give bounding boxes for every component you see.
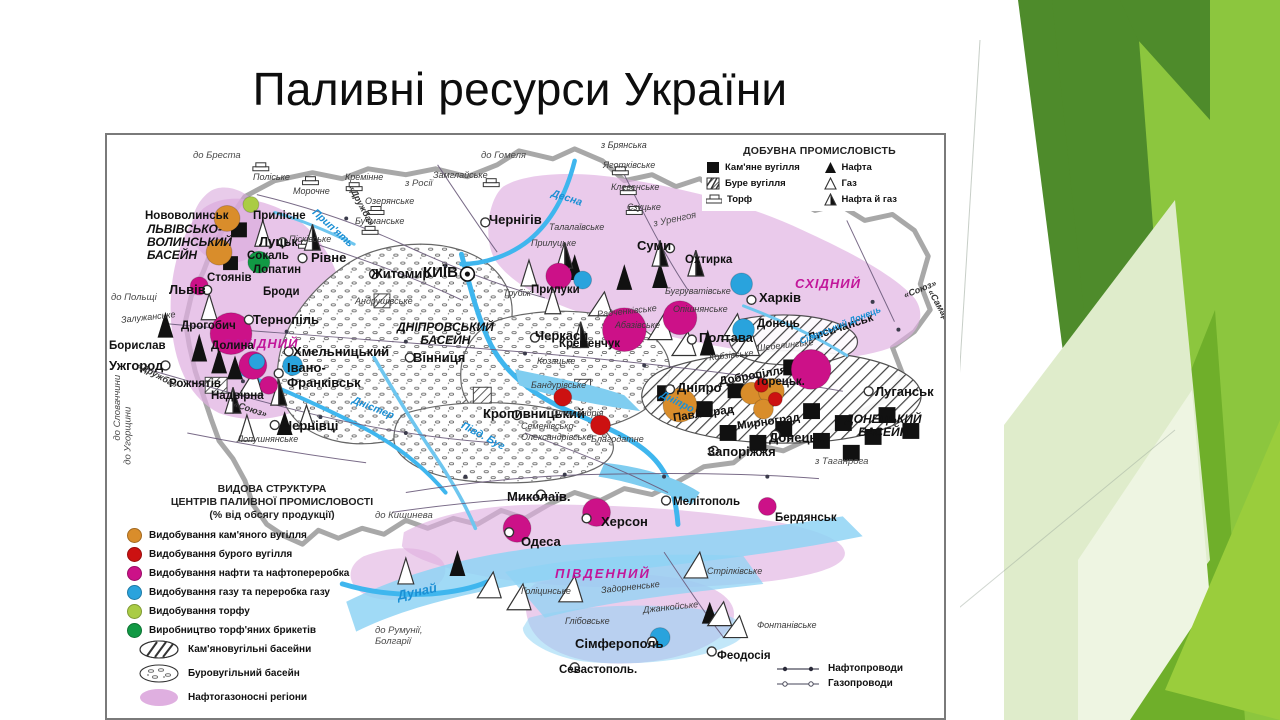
map-city-label: Бердянськ bbox=[775, 513, 837, 525]
map-deposit-label: Глібовське bbox=[565, 617, 610, 626]
legend-item: Нафта й газ bbox=[824, 193, 934, 206]
peat-briquette-dot-icon bbox=[127, 623, 142, 638]
map-city-label: Одеса bbox=[521, 535, 561, 548]
legend-mining-header: ДОБУВНА ПРОМИСЛОВІСТЬ bbox=[706, 145, 933, 157]
oil-dot-icon bbox=[127, 566, 142, 581]
legend-item-label: Нафта bbox=[842, 162, 872, 173]
oil-pipeline-icon bbox=[775, 664, 821, 674]
map-basin-label: ДНІПРОВСЬКИЙБАСЕЙН bbox=[397, 321, 494, 348]
map-city-label: Донець bbox=[757, 319, 800, 331]
map-city-label: Тернопіль bbox=[253, 313, 319, 326]
legend-item: Буре вугілля bbox=[706, 177, 816, 190]
brown-coal-dot-icon bbox=[127, 547, 142, 562]
map-external-direction-label: з Росії bbox=[405, 179, 433, 189]
legend-item: Буровугільний басейн bbox=[139, 664, 419, 683]
map-city-label: Дніпро bbox=[677, 381, 721, 394]
map-basin-label: ЛЬВІВСЬКО-ВОЛИНСЬКИЙБАСЕЙН bbox=[147, 223, 232, 262]
map-city-label: Броди bbox=[263, 287, 300, 299]
peat-dot-icon bbox=[127, 604, 142, 619]
legend-item-label: Видобування торфу bbox=[149, 606, 250, 617]
legend-structure-header-line2: ЦЕНТРІВ ПАЛИВНОЇ ПРОМИСЛОВОСТІ bbox=[171, 496, 373, 508]
map-city-label: Борислав bbox=[109, 341, 166, 353]
legend-pipelines: Нафтопроводи Газопроводи bbox=[775, 663, 945, 693]
legend-item: Торф bbox=[706, 193, 816, 206]
legend-production-structure: ВИДОВА СТРУКТУРА ЦЕНТРІВ ПАЛИВНОЇ ПРОМИС… bbox=[127, 483, 417, 642]
map-deposit-label: Яготківське bbox=[603, 161, 655, 170]
map-city-label: Херсон bbox=[601, 515, 648, 528]
legend-item-label: Газ bbox=[842, 178, 857, 189]
legend-item-label: Нафтопроводи bbox=[828, 663, 903, 674]
map-city-label: Охтирка bbox=[685, 255, 732, 267]
map-deposit-label: Голіцинське bbox=[521, 587, 571, 596]
hatched-square-icon bbox=[706, 177, 720, 190]
map-city-label: Донецьк bbox=[769, 431, 824, 444]
map-city-label: Прилісне bbox=[253, 211, 306, 223]
map-deposit-label: Озерянське bbox=[365, 197, 414, 206]
oil-gas-region-fill-icon bbox=[139, 688, 179, 707]
legend-structure-header-line1: ВИДОВА СТРУКТУРА bbox=[218, 483, 327, 495]
map-deposit-label: Семенівсько-Олександрівське bbox=[521, 421, 592, 443]
legend-item-label: Виробництво торф'яних брикетів bbox=[149, 625, 316, 636]
map-city-label: Рівне bbox=[311, 251, 346, 264]
map-city-label: Мелітополь bbox=[673, 497, 740, 509]
map-city-label: Миколаїв. bbox=[507, 490, 571, 503]
legend-item: Видобування торфу bbox=[127, 604, 417, 619]
legend-item: Газ bbox=[824, 177, 934, 190]
legend-item: Нафтогазоносні регіони bbox=[139, 688, 419, 707]
legend-mining-right-column: Нафта Газ Нафта й газ bbox=[824, 161, 934, 209]
map-basin-label: ДОНЕЦЬКИЙБАСЕЙН bbox=[845, 413, 922, 440]
legend-mining-industry: ДОБУВНА ПРОМИСЛОВІСТЬ Кам'яне вугілля Бу… bbox=[702, 143, 937, 211]
map-city-label: Львів bbox=[169, 283, 206, 296]
legend-item: Видобування газу та переробка газу bbox=[127, 585, 417, 600]
map-container: ЛЬВІВСЬКО-ВОЛИНСЬКИЙБАСЕЙН ДНІПРОВСЬКИЙБ… bbox=[105, 133, 946, 720]
legend-item: Видобування бурого вугілля bbox=[127, 547, 417, 562]
map-deposit-label: Фонтанівське bbox=[757, 621, 816, 630]
legend-item-label: Видобування бурого вугілля bbox=[149, 549, 292, 560]
map-deposit-label: Єзуцьке bbox=[627, 203, 661, 212]
legend-item: Виробництво торф'яних брикетів bbox=[127, 623, 417, 638]
legend-item-label: Торф bbox=[727, 194, 752, 205]
legend-item-label: Видобування нафти та нафтопереробка bbox=[149, 568, 349, 579]
map-city-label: Севастополь. bbox=[559, 665, 637, 677]
map-deposit-label: Опішнянське bbox=[673, 305, 728, 314]
slide-title: Паливні ресурси України bbox=[0, 62, 1040, 116]
map-city-label: Лопатин bbox=[253, 265, 301, 277]
map-deposit-label: Бандурівське bbox=[531, 381, 586, 390]
legend-item-label: Буровугільний басейн bbox=[188, 668, 300, 679]
hard-coal-dot-icon bbox=[127, 528, 142, 543]
map-deposit-label: Пісківське bbox=[289, 235, 331, 244]
legend-item-label: Нафтогазоносні регіони bbox=[188, 692, 307, 703]
map-city-label: Прилуки bbox=[531, 285, 580, 297]
map-city-label: Долина bbox=[211, 341, 254, 353]
legend-item-label: Кам'яновугільні басейни bbox=[188, 644, 311, 655]
map-deposit-label: Бугруватівське bbox=[665, 287, 731, 296]
white-triangle-icon bbox=[824, 177, 837, 190]
gas-dot-icon bbox=[127, 585, 142, 600]
map-external-direction-label: до Словаччини bbox=[113, 375, 123, 441]
legend-mining-left-column: Кам'яне вугілля Буре вугілля bbox=[706, 161, 816, 209]
peat-bench-icon bbox=[706, 193, 722, 206]
brown-coal-basin-dotted-icon bbox=[139, 664, 179, 683]
map-deposit-label: Талалаївське bbox=[549, 223, 604, 232]
legend-item: Кам'яне вугілля bbox=[706, 161, 816, 174]
map-city-label: Івано-Франківськ bbox=[287, 361, 361, 391]
map-deposit-label: Кремінне bbox=[345, 173, 383, 182]
legend-item-label: Нафта й газ bbox=[842, 194, 897, 205]
legend-item: Газопроводи bbox=[775, 678, 945, 689]
legend-item: Кам'яновугільні басейни bbox=[139, 640, 419, 659]
map-city-label: Феодосія bbox=[717, 651, 771, 663]
map-city-label: Луганськ bbox=[875, 385, 934, 398]
legend-item-label: Газопроводи bbox=[828, 678, 893, 689]
map-external-direction-label: до Польщі bbox=[111, 293, 157, 303]
legend-item: Видобування нафти та нафтопереробка bbox=[127, 566, 417, 581]
map-city-label: Стоянів bbox=[207, 273, 252, 285]
map-deposit-label: Олександрія bbox=[551, 409, 603, 418]
legend-item-label: Кам'яне вугілля bbox=[725, 162, 800, 173]
coal-basin-hatch-icon bbox=[139, 640, 179, 659]
legend-area-patterns: Кам'яновугільні басейни Буровугільний ба… bbox=[139, 640, 419, 712]
map-city-label: Запоріжжя bbox=[707, 445, 776, 458]
map-deposit-label: Трубіж bbox=[503, 289, 531, 298]
black-triangle-icon bbox=[824, 161, 837, 174]
gas-pipeline-icon bbox=[775, 679, 821, 689]
legend-structure-header-line3: (% від обсягу продукції) bbox=[209, 509, 334, 521]
map-city-label: Сімферополь bbox=[575, 637, 663, 650]
map-city-label: Кременчук bbox=[559, 339, 620, 351]
map-deposit-label: Прилуцьке bbox=[531, 239, 576, 248]
legend-structure-header: ВИДОВА СТРУКТУРА ЦЕНТРІВ ПАЛИВНОЇ ПРОМИС… bbox=[127, 483, 417, 521]
map-region-label: СХІДНИЙ bbox=[795, 277, 861, 290]
map-city-label: Нововолинськ bbox=[145, 211, 228, 223]
map-city-label: Чернігів bbox=[489, 213, 542, 226]
map-deposit-label: Абазівське bbox=[615, 321, 660, 330]
map-city-label: Полтава bbox=[699, 331, 753, 344]
map-external-direction-label: до Угорщини bbox=[123, 407, 133, 465]
map-deposit-label: Клевенське bbox=[611, 183, 659, 192]
map-deposit-label: Андрушівське bbox=[355, 297, 413, 306]
black-square-icon bbox=[706, 161, 720, 174]
map-deposit-label: Благодатне bbox=[591, 435, 644, 444]
legend-item-label: Видобування кам'яного вугілля bbox=[149, 530, 307, 541]
map-deposit-label: Замглайське bbox=[433, 171, 488, 180]
map-city-label: Харків bbox=[759, 291, 801, 304]
map-external-direction-label: до Бреста bbox=[193, 151, 241, 161]
legend-item: Видобування кам'яного вугілля bbox=[127, 528, 417, 543]
map-external-direction-label: до Гомеля bbox=[481, 151, 526, 161]
map-region-label: ПІВДЕННИЙ bbox=[555, 567, 651, 580]
map-deposit-label: Морочне bbox=[293, 187, 330, 196]
legend-item-label: Буре вугілля bbox=[725, 178, 786, 189]
map-city-label: Дрогобич bbox=[181, 321, 236, 333]
half-triangle-icon bbox=[824, 193, 837, 206]
legend-item: Нафта bbox=[824, 161, 934, 174]
map-city-label: Сокаль bbox=[247, 251, 289, 263]
map-city-label: Суми bbox=[637, 239, 671, 252]
map-external-direction-label: з Таганрога bbox=[815, 457, 868, 467]
legend-item: Нафтопроводи bbox=[775, 663, 945, 674]
map-city-label: Хмельницький bbox=[293, 345, 389, 358]
map-city-label: Вінниця bbox=[413, 351, 465, 364]
map-deposit-label: Козацьке bbox=[537, 357, 575, 366]
map-deposit-label: Стрілківське bbox=[707, 567, 762, 576]
map-deposit-label: Поліське bbox=[253, 173, 290, 182]
map-deposit-label: Лопушнянське bbox=[237, 435, 298, 444]
map-city-label: Житомир bbox=[371, 267, 430, 280]
legend-item-label: Видобування газу та переробка газу bbox=[149, 587, 330, 598]
map-city-label: Чернівці bbox=[283, 419, 338, 432]
map-deposit-label: з Брянська bbox=[601, 141, 647, 150]
